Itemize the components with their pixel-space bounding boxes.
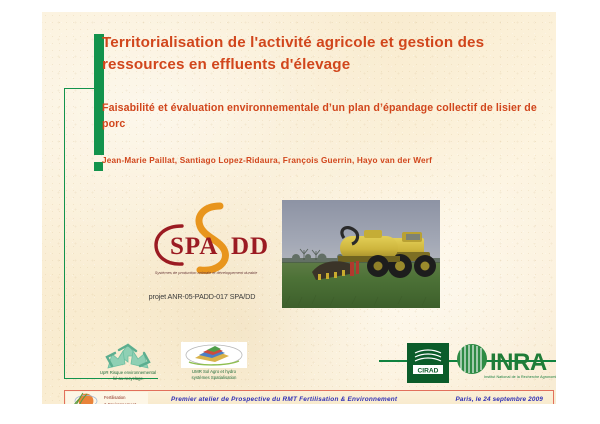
fertilisation-environnement-icon [66, 392, 106, 404]
inra-logo: INRA [454, 343, 556, 379]
spadd-project-code: projet ANR-05-PADD-017 SPA/DD [114, 292, 290, 301]
caption-line-2: lié au recyclage [82, 376, 174, 382]
inra-subtitle: Institut National de la Recherche Agrono… [484, 375, 556, 379]
partner-logo-cirad: CIRAD [407, 343, 449, 383]
umr-logo-panel [181, 342, 247, 368]
inra-wordmark: INRA [490, 349, 547, 376]
partner-logo-inra: INRA Institut National de la Recherche A… [454, 343, 556, 385]
landscape-icon [181, 342, 247, 368]
footer-event-title: Premier atelier de Prospective du RMT Fe… [171, 396, 397, 403]
spadd-logo-art: SPA DD [134, 200, 276, 280]
footer-logo-fertilisation-environnement: Fertilisation & Environnement [66, 392, 148, 404]
svg-text:DD: DD [231, 233, 269, 260]
footer-logo-text: Fertilisation & Environnement [104, 394, 148, 404]
footer-place-date: Paris, le 24 septembre 2009 [455, 396, 543, 403]
slurry-spreader-photo [282, 200, 440, 308]
slide-title: Territorialisation de l'activité agricol… [102, 32, 548, 75]
spadd-tagline: Systèmes de production animale et dévelo… [142, 270, 270, 276]
presentation-slide: Territorialisation de l'activité agricol… [42, 12, 556, 404]
cirad-wordmark: CIRAD [418, 367, 439, 374]
spadd-logo: SPA DD Systèmes de production animale et… [134, 200, 276, 308]
slide-subtitle: Faisabilité et évaluation environnementa… [102, 100, 550, 133]
recycle-icon [90, 342, 166, 372]
footer-logo-line-1: Fertilisation [104, 394, 148, 401]
slide-footer: Fertilisation & Environnement Premier at… [64, 390, 554, 404]
svg-text:SPA: SPA [170, 233, 218, 260]
cirad-logo: CIRAD [407, 343, 449, 383]
caption-line-2: systèmes Spatialisation [169, 375, 259, 381]
footer-logo-line-2: & Environnement [104, 401, 148, 404]
partner-logo-recycling-unit: UpR Risque environnemental lié au recycl… [90, 342, 166, 388]
partner-logo-umr-sas: UMR Sol Agro et hydro systèmes Spatialis… [173, 342, 255, 388]
slide-authors: Jean-Marie Paillat, Santiago Lopez-Ridau… [102, 156, 552, 165]
slurry-spreader-illustration [282, 200, 440, 308]
partner-caption-umr-sas: UMR Sol Agro et hydro systèmes Spatialis… [169, 369, 259, 382]
decorative-rule-vertical [64, 88, 65, 378]
partner-caption-recycling-unit: UpR Risque environnemental lié au recycl… [82, 370, 174, 383]
